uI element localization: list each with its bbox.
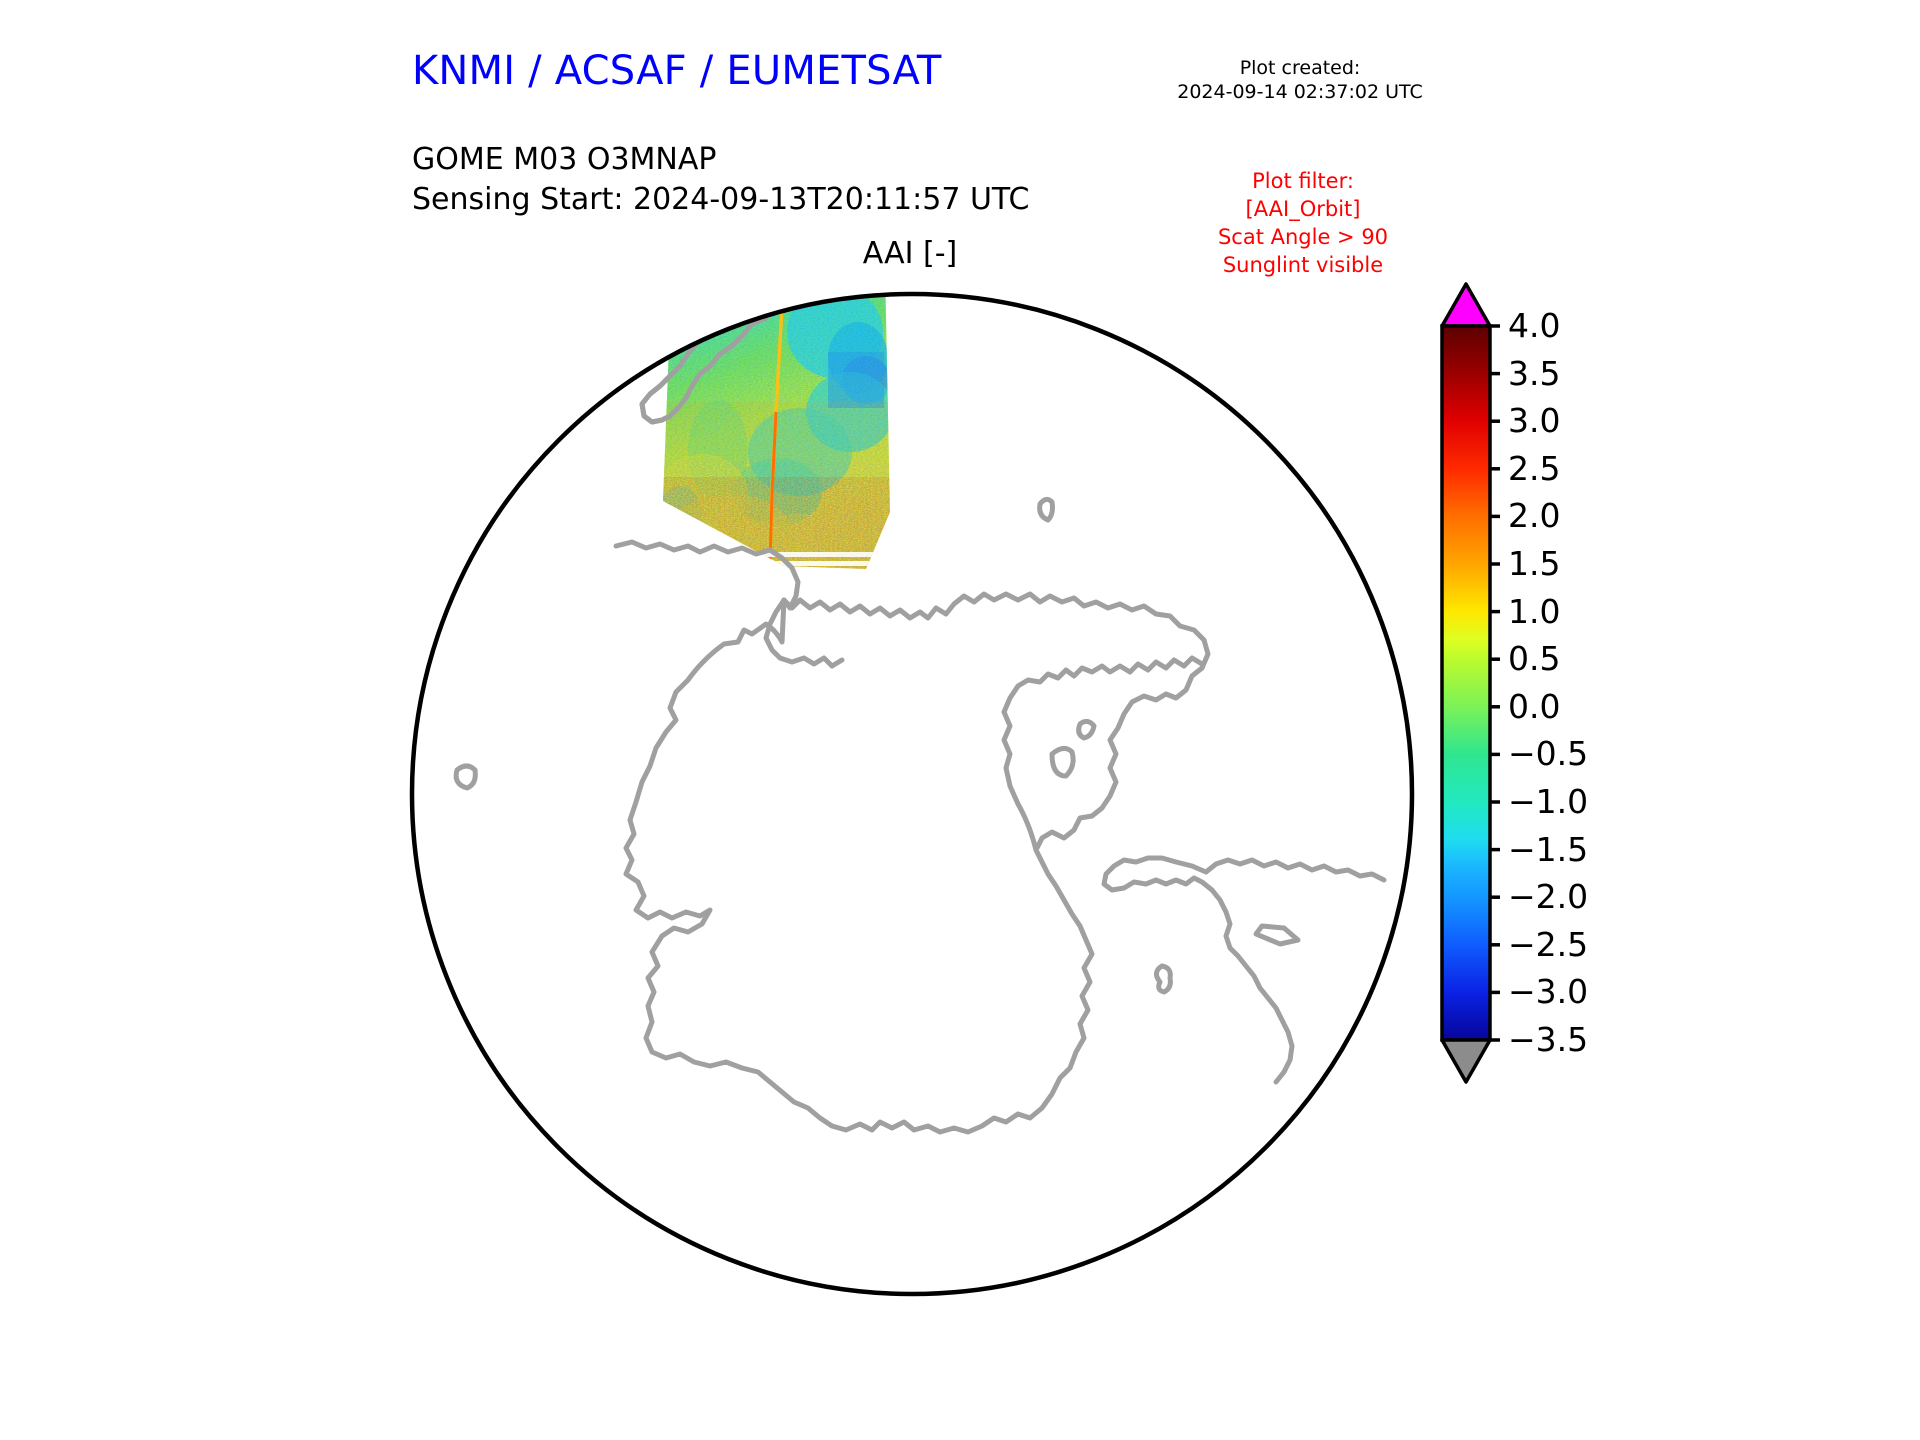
colorbar-tick-label-8: 0.0 xyxy=(1508,690,1560,723)
plot-filter-line-2: Scat Angle > 90 xyxy=(1158,224,1448,252)
plot-filter-line-0: Plot filter: xyxy=(1158,168,1448,196)
colorbar-tick-label-9: −0.5 xyxy=(1508,737,1588,770)
colorbar-tick-label-5: 1.5 xyxy=(1508,547,1560,580)
colorbar-tick-labels: 4.0 3.5 3.0 2.5 2.0 1.5 1.0 0.5 0.0 −0.5… xyxy=(1508,282,1638,1112)
globe-disc xyxy=(412,294,1412,1294)
colorbar-tick-label-3: 2.5 xyxy=(1508,452,1560,485)
colorbar-tick-label-1: 3.5 xyxy=(1508,357,1560,390)
plot-title-block: GOME M03 O3MNAP Sensing Start: 2024-09-1… xyxy=(412,140,1029,219)
colorbar-tick-label-13: −2.5 xyxy=(1508,928,1588,961)
colorbar-gradient xyxy=(1442,326,1490,1040)
colorbar-over-arrow xyxy=(1442,284,1490,326)
colorbar-tick-label-10: −1.0 xyxy=(1508,785,1588,818)
colorbar-under-arrow xyxy=(1442,1040,1490,1082)
organisation-header: KNMI / ACSAF / EUMETSAT xyxy=(412,48,942,94)
colorbar-tick-label-11: −1.5 xyxy=(1508,833,1588,866)
colorbar-tick-label-14: −3.0 xyxy=(1508,975,1588,1008)
colorbar xyxy=(1440,282,1500,1112)
coastline-new-zealand-north-island xyxy=(760,264,812,308)
colorbar-tick-label-2: 3.0 xyxy=(1508,404,1560,437)
sensing-start-title: Sensing Start: 2024-09-13T20:11:57 UTC xyxy=(412,180,1029,220)
colorbar-tick-label-6: 1.0 xyxy=(1508,595,1560,628)
colorbar-tick-label-12: −2.0 xyxy=(1508,880,1588,913)
plot-canvas: KNMI / ACSAF / EUMETSAT Plot created: 20… xyxy=(0,0,1920,1440)
coastline-new-zealand-north-island-overlay xyxy=(760,264,812,308)
instrument-title: GOME M03 O3MNAP xyxy=(412,140,1029,180)
colorbar-tick-label-7: 0.5 xyxy=(1508,642,1560,675)
colorbar-tick-label-4: 2.0 xyxy=(1508,499,1560,532)
plot-created-label: Plot created: xyxy=(1148,56,1452,80)
plot-created-timestamp: 2024-09-14 02:37:02 UTC xyxy=(1148,80,1452,104)
colorbar-tick-label-15: −3.5 xyxy=(1508,1023,1588,1056)
plot-filter-line-1: [AAI_Orbit] xyxy=(1158,196,1448,224)
polar-map xyxy=(380,262,1444,1326)
colorbar-tick-label-0: 4.0 xyxy=(1508,309,1560,342)
plot-created-block: Plot created: 2024-09-14 02:37:02 UTC xyxy=(1148,56,1452,105)
